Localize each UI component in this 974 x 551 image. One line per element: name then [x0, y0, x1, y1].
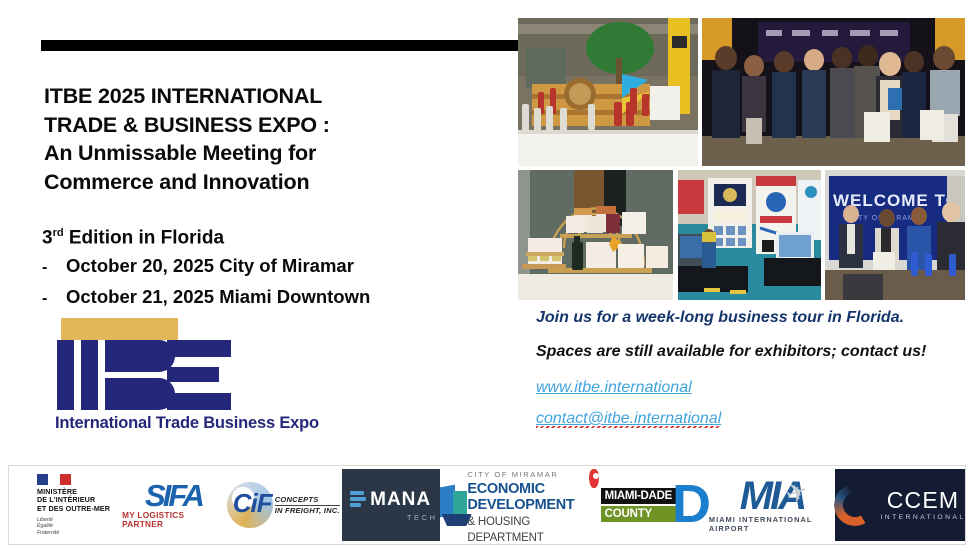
- list-item: - October 20, 2025 City of Miramar: [42, 257, 502, 276]
- headline-line-3: An Unmissable Meeting for: [44, 139, 494, 168]
- ccem-globe-icon: [834, 484, 876, 526]
- page-title: ITBE 2025 INTERNATIONAL TRADE & BUSINESS…: [44, 82, 494, 196]
- edition-title-rest: Edition in Florida: [64, 227, 224, 248]
- logo-mana-tech: MANA TECH: [342, 469, 440, 541]
- cif-line-1: CONCEPTS: [275, 495, 340, 506]
- email-link[interactable]: contact@itbe.international: [536, 410, 721, 428]
- mana-mark-icon: [350, 491, 366, 509]
- photo-group-award: [702, 18, 965, 166]
- headline-line-1: ITBE 2025 INTERNATIONAL: [44, 82, 494, 111]
- edition-block: 3rd Edition in Florida - October 20, 202…: [42, 228, 502, 319]
- cif-wordmark: CiF: [233, 488, 272, 519]
- itbe-logo-name: International Trade Business Expo: [55, 414, 355, 433]
- french-flag-icon: [37, 474, 71, 485]
- call-to-action-block: Join us for a week-long business tour in…: [536, 308, 956, 441]
- photo-expo-booths: [678, 170, 821, 300]
- logo-ministere-interieur: MINISTÈRE DE L'INTÉRIEUR ET DES OUTRE-ME…: [9, 466, 122, 544]
- mana-wordmark: MANA: [370, 489, 431, 511]
- edition-date-list: - October 20, 2025 City of Miramar - Oct…: [42, 257, 502, 307]
- website-link[interactable]: www.itbe.international: [536, 379, 692, 397]
- mia-wordmark: MIA ✈: [740, 478, 804, 514]
- list-item: - October 21, 2025 Miami Downtown: [42, 288, 502, 307]
- sifa-tagline: MY LOGISTICS PARTNER: [122, 511, 225, 529]
- map-pin-icon: [589, 469, 598, 488]
- slide-canvas: ITBE 2025 INTERNATIONAL TRADE & BUSINESS…: [0, 0, 974, 551]
- cta-line-1: Join us for a week-long business tour in…: [536, 308, 956, 328]
- cif-globe-icon: CiF: [227, 482, 273, 528]
- photo-welcome-panel: WELCOME TO CITY OF MIRAMAR: [825, 170, 965, 300]
- cta-line-2: Spaces are still available for exhibitor…: [536, 342, 956, 362]
- edition-title: 3rd Edition in Florida: [42, 228, 502, 247]
- sifa-wordmark: SIFA: [145, 481, 202, 510]
- ministere-motto-3: Fraternité: [37, 530, 59, 537]
- mana-tagline: TECH: [407, 513, 438, 522]
- miramar-books-icon: [440, 482, 464, 528]
- photo-booth-bottles: [518, 18, 698, 166]
- headline-line-2: TRADE & BUSINESS EXPO :: [44, 111, 494, 140]
- bullet-dash: -: [42, 291, 66, 307]
- miramar-line-1: CITY OF MIRAMAR: [467, 470, 558, 479]
- ccem-tagline: INTERNATIONAL: [880, 514, 965, 521]
- edition-ordinal-number: 3: [42, 227, 53, 248]
- miami-dade-line-2: COUNTY: [601, 506, 676, 522]
- itbe-logo: International Trade Business Expo: [55, 318, 355, 448]
- miami-dade-line-1: MIAMI-DADE: [601, 488, 676, 504]
- itbe-logo-gold-bar: [61, 318, 178, 340]
- edition-date-1: October 20, 2025 City of Miramar: [66, 257, 354, 276]
- logo-miami-dade-county: MIAMI-DADE COUNTY D: [599, 466, 709, 544]
- miramar-line-2: ECONOMIC DEVELOPMENT: [467, 481, 574, 513]
- logo-miami-international-airport: MIA ✈ MIAMI INTERNATIONAL AIRPORT: [709, 466, 835, 544]
- miami-dade-letter: D: [672, 483, 707, 526]
- cif-line-2: IN FREIGHT, INC.: [275, 506, 340, 515]
- ccem-wordmark: CCEM: [887, 489, 960, 512]
- sponsor-logo-strip: MINISTÈRE DE L'INTÉRIEUR ET DES OUTRE-ME…: [8, 465, 966, 545]
- logo-cif: CiF CONCEPTS IN FREIGHT, INC.: [225, 466, 342, 544]
- photo-product-display: [518, 170, 673, 300]
- ministere-line-3: ET DES OUTRE-MER: [37, 505, 110, 514]
- headline-line-4: Commerce and Innovation: [44, 168, 494, 197]
- logo-sifa: SIFA MY LOGISTICS PARTNER: [122, 466, 225, 544]
- edition-date-2: October 21, 2025 Miami Downtown: [66, 288, 370, 307]
- logo-city-of-miramar: CITY OF MIRAMAR ECONOMIC DEVELOPMENT & H…: [440, 466, 599, 544]
- logo-ccem-international: CCEM INTERNATIONAL: [835, 469, 965, 541]
- miramar-line-3: & HOUSING DEPARTMENT: [467, 516, 543, 544]
- edition-ordinal-suffix: rd: [53, 227, 64, 239]
- itbe-logo-mark: [55, 340, 235, 410]
- title-rule: [41, 40, 518, 51]
- bullet-dash: -: [42, 260, 66, 276]
